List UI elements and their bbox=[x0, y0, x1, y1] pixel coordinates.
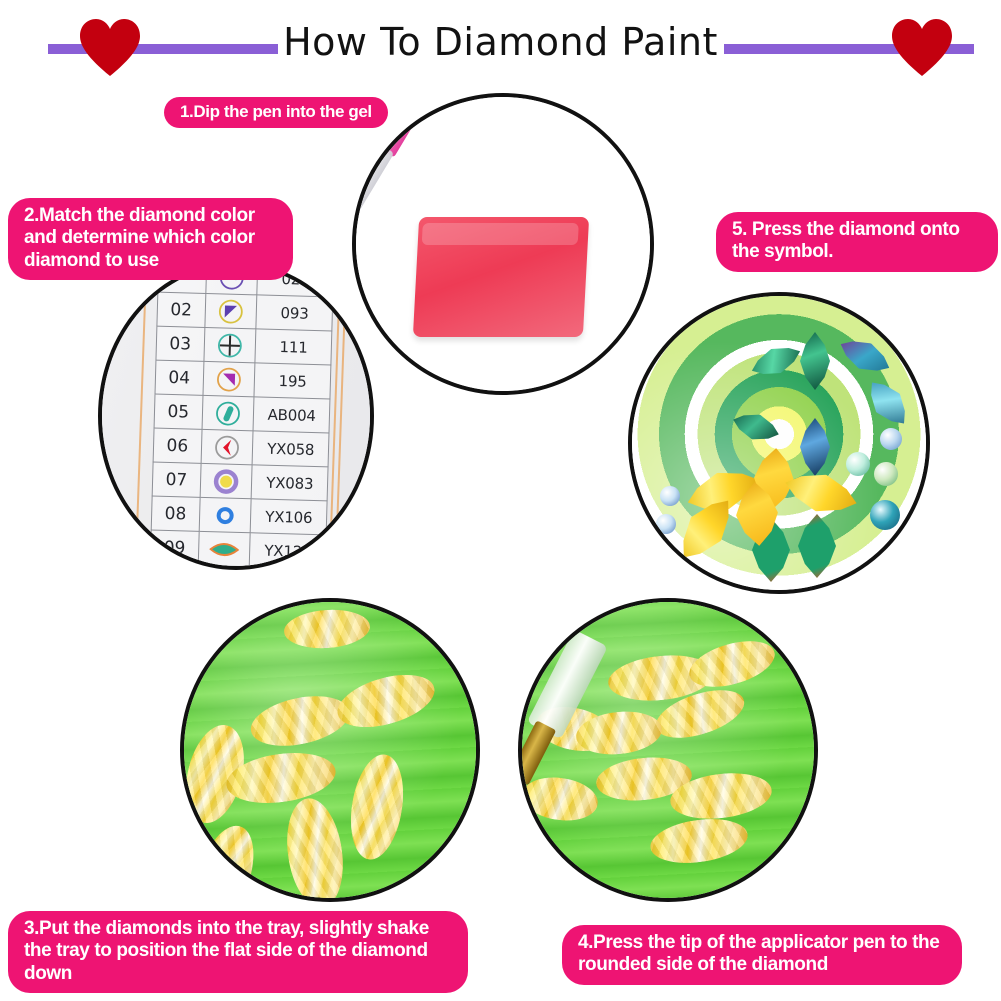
triangle-down-right-icon bbox=[203, 363, 255, 394]
canvas-gem bbox=[656, 514, 676, 534]
table-row: 03111 bbox=[156, 326, 332, 365]
canvas-gem bbox=[846, 452, 870, 476]
legend-code-cell: YX083 bbox=[252, 465, 328, 501]
legend-symbol-cell bbox=[204, 327, 257, 362]
table-row: 04195 bbox=[155, 360, 331, 399]
canvas-gem bbox=[880, 428, 902, 450]
color-legend-table: 02802093031110419505AB00406YX05807YX0830… bbox=[150, 262, 335, 569]
legend-code-cell: 111 bbox=[255, 329, 331, 365]
step-label-2: 2.Match the diamond color and determine … bbox=[8, 198, 293, 280]
legend-symbol-cell bbox=[201, 429, 254, 464]
canvas-gem bbox=[874, 462, 898, 486]
step-label-3: 3.Put the diamonds into the tray, slight… bbox=[8, 911, 468, 993]
legend-number-cell: 04 bbox=[155, 360, 204, 395]
triangle-down-left-icon bbox=[205, 295, 257, 326]
table-row: 08YX106 bbox=[151, 496, 327, 535]
step-label-5: 5. Press the diamond onto the symbol. bbox=[716, 212, 998, 272]
filled-dot-ring-icon bbox=[200, 465, 252, 496]
table-row: 05AB004 bbox=[154, 394, 330, 433]
legend-number-cell: 08 bbox=[151, 496, 200, 531]
step-label-4: 4.Press the tip of the applicator pen to… bbox=[562, 925, 962, 985]
poster-stage: How To Diamond Paint 0280209303111041950… bbox=[0, 0, 1001, 1001]
color-chart-closeup-photo: 02802093031110419505AB00406YX05807YX0830… bbox=[98, 262, 374, 570]
pressing-diamond-onto-canvas-photo bbox=[628, 292, 930, 594]
canvas-gem bbox=[870, 500, 900, 530]
legend-code-cell: 195 bbox=[254, 363, 330, 399]
pen-picking-diamond-photo bbox=[518, 598, 818, 902]
legend-code-cell: YX106 bbox=[251, 499, 327, 535]
legend-code-cell: AB004 bbox=[253, 397, 329, 433]
legend-number-cell: 05 bbox=[154, 394, 203, 429]
legend-number-cell: 06 bbox=[153, 428, 202, 463]
legend-symbol-cell bbox=[199, 497, 252, 532]
legend-number-cell: 02 bbox=[157, 292, 206, 327]
gel-pad bbox=[413, 217, 589, 337]
legend-symbol-cell bbox=[203, 361, 256, 396]
step-label-1: 1.Dip the pen into the gel bbox=[164, 97, 388, 128]
canvas-gem bbox=[660, 486, 680, 506]
pen-dipping-into-gel-photo bbox=[352, 93, 654, 395]
table-row: 07YX083 bbox=[152, 462, 328, 501]
page-title: How To Diamond Paint bbox=[0, 20, 1001, 64]
legend-number-cell: 07 bbox=[152, 462, 201, 497]
legend-symbol-cell bbox=[204, 293, 257, 328]
plus-cross-icon bbox=[204, 329, 256, 360]
left-chevron-arrow-icon bbox=[201, 431, 253, 462]
legend-number-cell: 09 bbox=[150, 530, 199, 565]
table-row: 06YX058 bbox=[153, 428, 329, 467]
table-row: 09YX125 bbox=[150, 530, 326, 569]
legend-symbol-cell bbox=[202, 395, 255, 430]
diamonds-in-tray-photo bbox=[180, 598, 480, 902]
legend-code-cell: YX058 bbox=[253, 431, 329, 467]
open-ring-icon bbox=[199, 499, 251, 530]
diagonal-capsule-icon bbox=[202, 397, 254, 428]
legend-code-cell: 093 bbox=[256, 295, 332, 331]
legend-number-cell: 03 bbox=[156, 326, 205, 361]
legend-symbol-cell bbox=[200, 463, 253, 498]
table-row: 02093 bbox=[157, 292, 333, 331]
legend-symbol-cell bbox=[198, 531, 251, 566]
legend-code-cell: YX125 bbox=[250, 533, 326, 569]
leaf-marquise-icon bbox=[198, 533, 250, 564]
